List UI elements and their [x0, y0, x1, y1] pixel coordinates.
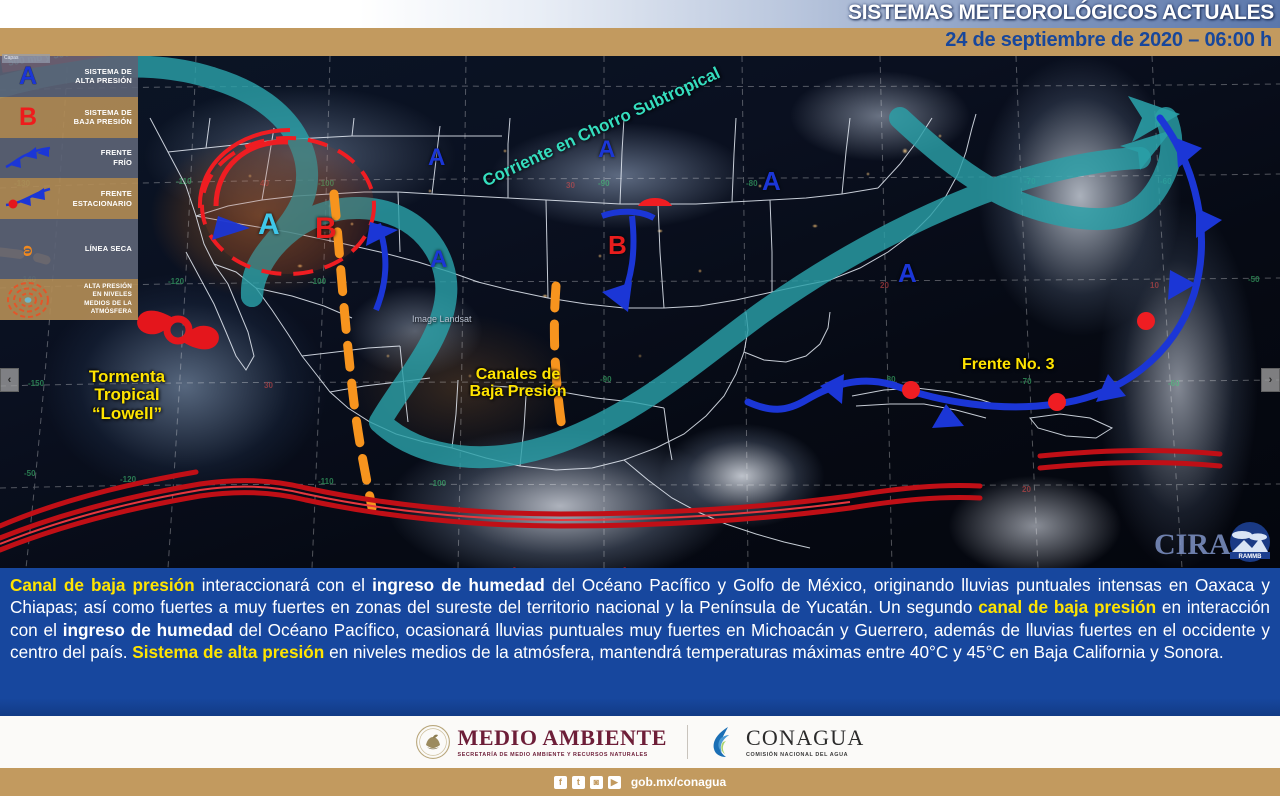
legend-label-line: FRENTE — [54, 148, 132, 158]
image-credit-label: Image Landsat — [412, 314, 472, 324]
map-scroll-left-button[interactable]: ‹ — [0, 368, 19, 392]
tropical-storm-label-line1: Tormenta — [62, 368, 192, 386]
high-pressure-marker: A — [762, 168, 781, 194]
legend-item-high-pressure-label: SISTEMA DE ALTA PRESIÓN — [54, 67, 134, 86]
cira-rammb-watermark: CIRA RAMMB — [1154, 516, 1274, 564]
forecast-segment: Canal de baja presión — [10, 575, 195, 595]
legend-item-mid-level-high: ALTA PRESIÓN EN NIVELES MEDIOS DE LA ATM… — [0, 279, 138, 320]
instagram-icon[interactable]: ◙ — [590, 776, 603, 789]
map-legend-panel[interactable]: Capas A SISTEMA DE ALTA PRESIÓN B SISTEM… — [0, 56, 138, 301]
footer-logos: MEDIO AMBIENTE SECRETARÍA DE MEDIO AMBIE… — [0, 716, 1280, 768]
high-pressure-marker: A — [598, 138, 615, 162]
high-pressure-marker: A — [258, 210, 280, 240]
low-pressure-marker: B — [315, 214, 337, 244]
legend-label-line: SISTEMA DE — [54, 108, 132, 118]
legend-item-dry-line-label: LÍNEA SECA — [54, 244, 134, 254]
agency-text: CONAGUA COMISIÓN NACIONAL DEL AGUA — [746, 727, 864, 758]
legend-item-dry-line: ʚ LÍNEA SECA — [0, 219, 138, 279]
legend-item-mid-level-high-label: ALTA PRESIÓN EN NIVELES MEDIOS DE LA ATM… — [54, 283, 134, 316]
tropical-storm-label-line2: Tropical — [62, 386, 192, 404]
gobmx-url[interactable]: gob.mx/conagua — [631, 775, 726, 789]
cold-front-icon — [2, 145, 54, 171]
dry-line-icon: ʚ — [2, 238, 54, 260]
agency-subtitle: COMISIÓN NACIONAL DEL AGUA — [746, 752, 864, 758]
high-pressure-marker: A — [430, 248, 447, 272]
trough-label-line2: Baja Presión — [458, 383, 578, 400]
mid-level-high-pressure-icon — [2, 278, 54, 322]
mexican-eagle-seal-icon — [416, 725, 450, 759]
ministry-name: MEDIO AMBIENTE — [458, 727, 667, 749]
legend-label-line: ALTA PRESIÓN — [54, 283, 132, 291]
ministry-brand: MEDIO AMBIENTE SECRETARÍA DE MEDIO AMBIE… — [416, 725, 667, 759]
legend-label-line: EN NIVELES — [54, 291, 132, 299]
facebook-icon[interactable]: f — [554, 776, 567, 789]
legend-label-line: BAJA PRESIÓN — [54, 117, 132, 127]
legend-item-low-pressure-label: SISTEMA DE BAJA PRESIÓN — [54, 108, 134, 127]
satellite-map[interactable]: -110-120 -130-140 -150-100 -100-120 -100… — [0, 56, 1280, 568]
forecast-date: 24 de septiembre de 2020 – 06:00 h — [945, 29, 1272, 52]
forecast-text-panel: Canal de baja presión interaccionará con… — [0, 568, 1280, 716]
legend-label-line: MEDIOS DE LA — [54, 300, 132, 308]
legend-item-low-pressure: B SISTEMA DE BAJA PRESIÓN — [0, 97, 138, 138]
legend-item-cold-front-label: FRENTE FRÍO — [54, 148, 134, 167]
itcz-line — [0, 450, 1220, 550]
tropical-storm-label: Tormenta Tropical “Lowell” — [62, 368, 192, 423]
footer-divider — [687, 725, 688, 759]
forecast-segment: canal de baja presión — [978, 597, 1156, 617]
legend-label-line: ATMÓSFERA — [54, 308, 132, 316]
footer-social-band: f t ◙ ▶ gob.mx/conagua — [0, 768, 1280, 796]
legend-label-line: LÍNEA SECA — [54, 244, 132, 254]
mid-level-high-pressure-ring — [200, 130, 374, 274]
svg-text:CIRA: CIRA — [1154, 528, 1231, 561]
svg-text:RAMMB: RAMMB — [1239, 554, 1263, 560]
low-pressure-letter-b-icon: B — [2, 105, 54, 130]
forecast-text: Canal de baja presión interaccionará con… — [10, 574, 1270, 663]
high-pressure-letter-a-icon: A — [2, 64, 54, 89]
high-pressure-marker: A — [428, 146, 445, 170]
tropical-storm-label-line3: “Lowell” — [62, 405, 192, 423]
header-band: SISTEMAS METEOROLÓGICOS ACTUALES — [0, 0, 1280, 28]
forecast-segment: ingreso de humedad — [372, 575, 545, 595]
forecast-segment: Sistema de alta presión — [132, 642, 324, 662]
map-scroll-right-button[interactable]: › — [1261, 368, 1280, 392]
high-pressure-marker: A — [898, 260, 917, 286]
legend-tab-label[interactable]: Capas — [2, 54, 50, 63]
legend-item-cold-front: FRENTE FRÍO — [0, 138, 138, 179]
cold-front-label: Frente No. 3 — [962, 356, 1054, 373]
legend-label-line: FRENTE — [54, 189, 132, 199]
low-pressure-marker: B — [608, 232, 627, 258]
legend-label-line: SISTEMA DE — [54, 67, 132, 77]
header-date-band: 24 de septiembre de 2020 – 06:00 h — [0, 28, 1280, 56]
tropical-storm-symbol — [137, 311, 219, 350]
ministry-text: MEDIO AMBIENTE SECRETARÍA DE MEDIO AMBIE… — [458, 727, 667, 758]
twitter-icon[interactable]: t — [572, 776, 585, 789]
legend-item-stationary-front-label: FRENTE ESTACIONARIO — [54, 189, 134, 208]
forecast-segment: en niveles medios de la atmósfera, mante… — [324, 642, 1223, 662]
legend-label-line: ESTACIONARIO — [54, 199, 132, 209]
forecast-segment: ingreso de humedad — [63, 620, 233, 640]
trough-label-line1: Canales de — [458, 366, 578, 383]
legend-item-stationary-front: FRENTE ESTACIONARIO — [0, 178, 138, 219]
legend-label-line: FRÍO — [54, 158, 132, 168]
page-title: SISTEMAS METEOROLÓGICOS ACTUALES — [848, 1, 1274, 25]
youtube-icon[interactable]: ▶ — [608, 776, 621, 789]
agency-brand: CONAGUA COMISIÓN NACIONAL DEL AGUA — [708, 725, 864, 759]
agency-name: CONAGUA — [746, 727, 864, 749]
forecast-segment: interaccionará con el — [195, 575, 372, 595]
stationary-front-icon — [2, 186, 54, 212]
itcz-line-highlight — [0, 487, 850, 544]
conagua-wave-icon — [708, 725, 738, 759]
legend-label-line: ALTA PRESIÓN — [54, 76, 132, 86]
ministry-subtitle: SECRETARÍA DE MEDIO AMBIENTE Y RECURSOS … — [458, 752, 667, 758]
trough-label: Canales de Baja Presión — [458, 366, 578, 401]
weather-annotation-layer — [0, 56, 1280, 568]
